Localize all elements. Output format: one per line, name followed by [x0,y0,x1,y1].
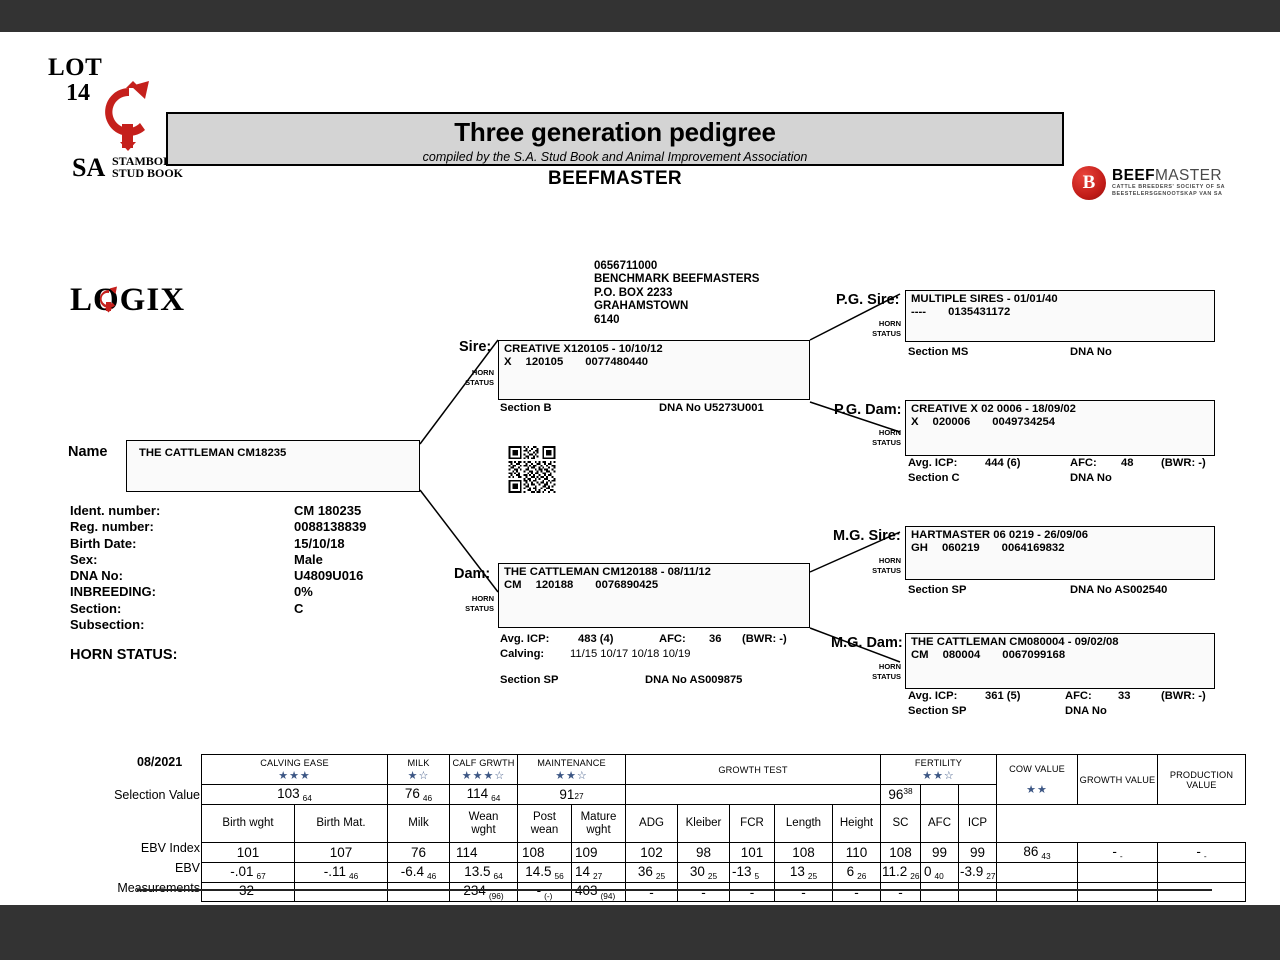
sire-dna: DNA No U5273U001 [659,402,764,414]
table-baseline-rule [137,889,1212,891]
detail-value: U4809U016 [294,568,363,583]
viewer-top-bar [0,0,1280,32]
dam-ident: 120188 [536,579,574,591]
selection-value-icp-empty [959,785,997,805]
mg-dam-icp-value: 361 (5) [985,690,1020,702]
viewer-bottom-bar [0,905,1280,960]
trait-header-adg: ADG [626,805,678,843]
pg-dam-name: CREATIVE X 02 0006 - 18/09/02 [911,403,1076,415]
detail-row: Subsection: [70,617,430,633]
sire-prefix: X [504,356,512,368]
meas-icp-empty [959,883,997,902]
horn-tag-line2: STATUS [434,604,494,614]
breed-name: BEEFMASTER [166,168,1064,190]
breeder-line: P.O. BOX 2233 [594,287,759,300]
trait-header-afc: AFC [921,805,959,843]
stars-calf-growth: ★★★☆ [450,769,517,782]
dam-bwr: (BWR: -) [742,633,787,645]
pg-sire-reg: 0135431172 [948,306,1010,318]
mg-sire-reg: 0064169832 [1002,542,1065,554]
mg-sire-section: Section SP [908,584,966,596]
ebv-index-birth-wght: 101 [202,843,295,863]
trait-header-fcr: FCR [730,805,775,843]
logix-logo: LOGIX [70,282,185,316]
lot-label: LOT [48,54,102,82]
horn-tag-line1: HORN [841,428,901,438]
beefmaster-word-master: MASTER [1155,167,1222,184]
pg-dam-icp-value: 444 (6) [985,457,1020,469]
selection-value-milk: 7646 [388,785,450,805]
meas-production-value-empty [1158,883,1246,902]
pg-sire-label: P.G. Sire: [836,292,899,308]
pg-dam-prefix: X [911,416,919,428]
pg-dam-box[interactable]: CREATIVE X 02 0006 - 18/09/02 X020006004… [905,400,1215,456]
pg-dam-horn-status-tag: HORN STATUS [841,428,901,447]
ebv-wean-wght: 13.564 [450,863,518,883]
ebv-sc: 11.226 [881,863,921,883]
ebv-post-wean: 14.556 [518,863,572,883]
ebv-index-milk: 76 [388,843,450,863]
trait-header-birth-wght: Birth wght [202,805,295,843]
pg-sire-horn-status-tag: HORN STATUS [841,319,901,338]
pg-dam-reg: 0049734254 [992,416,1055,428]
mg-sire-dna: DNA No AS002540 [1070,584,1167,596]
ebv-index-production-value: -- [1158,843,1246,863]
detail-key: INBREEDING: [70,584,156,599]
pg-sire-box[interactable]: MULTIPLE SIRES - 01/01/40 ----0135431172 [905,290,1215,342]
svg-text:SA: SA [72,153,105,182]
ebv-index-sc: 108 [881,843,921,863]
meas-growth-value-empty [1078,883,1158,902]
mg-dam-label: M.G. Dam: [831,635,903,651]
ebv-index-mature-wght: 109 [572,843,626,863]
meas-fcr: - [730,883,775,902]
breeder-line: GRAHAMSTOWN [594,300,759,313]
detail-key: Section: [70,601,121,616]
horn-tag-line2: STATUS [841,438,901,448]
mg-sire-horn-status-tag: HORN STATUS [841,556,901,575]
stars-calving-ease: ★★★ [202,769,387,782]
horn-tag-line1: HORN [841,662,901,672]
dam-name: THE CATTLEMAN CM120188 - 08/11/12 [504,566,711,578]
qr-code [497,446,567,493]
ebv-index-cow-value: 8643 [997,843,1078,863]
mg-dam-ident-line: CM0800040067099168 [911,649,1065,661]
stars-cow-value: ★★ [997,783,1077,796]
dam-icp-label: Avg. ICP: [500,633,549,645]
dam-calving-dates: 11/15 10/17 10/18 10/19 [570,648,690,660]
selection-value-growth-test-empty [626,785,881,805]
mg-sire-label: M.G. Sire: [833,528,901,544]
pg-dam-ident-line: X0200060049734254 [911,416,1055,428]
group-header-cow-value: COW VALUE ★★ [997,755,1078,805]
ebv-milk: -6.446 [388,863,450,883]
row-label-selection-value: Selection Value [114,788,200,802]
ebv-cow-value-empty [997,863,1078,883]
meas-mature-wght: 403(94) [572,883,626,902]
beefmaster-wordmark: BEEFMASTER [1112,167,1222,185]
dam-box[interactable]: THE CATTLEMAN CM120188 - 08/11/12 CM1201… [498,563,810,628]
meas-milk [388,883,450,902]
beefmaster-tagline-af: BEESTELERSGENOOTSKAP VAN SA [1112,191,1223,197]
stars-fertility: ★★☆ [881,769,996,782]
ebv-index-icp: 99 [959,843,997,863]
ebv-index-adg: 102 [626,843,678,863]
breeder-line: 0656711000 [594,260,759,273]
dam-section: Section SP [500,674,558,686]
beefmaster-word-beef: BEEF [1112,167,1155,184]
detail-row: Birth Date: 15/10/18 [70,536,430,552]
pg-dam-dna: DNA No [1070,472,1112,484]
breeder-line: BENCHMARK BEEFMASTERS [594,273,759,286]
detail-key: Subsection: [70,617,144,632]
detail-row: Section: C [70,601,430,617]
pg-sire-dna: DNA No [1070,346,1112,358]
ebv-kleiber: 3025 [678,863,730,883]
group-header-calving-ease: CALVING EASE ★★★ [202,755,388,785]
trait-header-post-wean: Postwean [518,805,572,843]
animal-details-list: Ident. number: CM 180235 Reg. number: 00… [70,503,430,633]
pg-dam-ident: 020006 [933,416,971,428]
detail-key: Reg. number: [70,519,154,534]
selection-value-calf-growth: 11464 [450,785,518,805]
trait-header-wean-wght: Weanwght [450,805,518,843]
mg-dam-dna: DNA No [1065,705,1107,717]
group-header-maintenance: MAINTENANCE ★★☆ [518,755,626,785]
trait-header-mature-wght: Maturewght [572,805,626,843]
detail-row: Sex: Male [70,552,430,568]
mg-sire-ident-line: GH0602190064169832 [911,542,1064,554]
mg-dam-prefix: CM [911,649,929,661]
mg-dam-box[interactable]: THE CATTLEMAN CM080004 - 09/02/08 CM0800… [905,633,1215,689]
horn-tag-line1: HORN [434,594,494,604]
detail-key: DNA No: [70,568,123,583]
group-header-fertility: FERTILITY ★★☆ [881,755,997,785]
ebv-index-post-wean: 108 [518,843,572,863]
breeder-line: 6140 [594,314,759,327]
ebv-fcr: -135 [730,863,775,883]
dam-dna: DNA No AS009875 [645,674,742,686]
ebv-index-height: 110 [833,843,881,863]
detail-key: Birth Date: [70,536,136,551]
selection-value-calving-ease: 10364 [202,785,388,805]
group-header-calf-growth: CALF GRWTH ★★★☆ [450,755,518,785]
mg-dam-afc-value: 33 [1118,690,1130,702]
sire-box[interactable]: CREATIVE X120105 - 10/10/12 X12010500774… [498,340,810,400]
ebv-afc: 040 [921,863,959,883]
detail-value: 15/10/18 [294,536,345,551]
pg-dam-label: P.G. Dam: [834,402,901,418]
meas-length: - [775,883,833,902]
ebv-mature-wght: 1427 [572,863,626,883]
pg-dam-afc-value: 48 [1121,457,1133,469]
mg-sire-ident: 060219 [942,542,980,554]
pedigree-document-page: LOT 14 SA STAMBOEK STUD BOOK Three gener… [0,32,1280,905]
ebv-index-kleiber: 98 [678,843,730,863]
mg-dam-ident: 080004 [943,649,981,661]
sire-label: Sire: [459,339,491,355]
group-header-production-value: PRODUCTION VALUE [1158,755,1246,805]
meas-height: - [833,883,881,902]
dam-reg: 0076890425 [595,579,658,591]
detail-row: INBREEDING: 0% [70,584,430,600]
selection-value-fertility: 9638 [881,785,921,805]
ebv-birth-mat: -.1146 [295,863,388,883]
trait-header-sc: SC [881,805,921,843]
detail-value: Male [294,552,323,567]
table-ebv-index-row: 101 107 76 114 108 109 102 98 101 108 11… [202,843,1246,863]
meas-afc-empty [921,883,959,902]
meas-adg: - [626,883,678,902]
sire-ident-line: X1201050077480440 [504,356,648,368]
animal-name-label: Name [68,444,108,460]
detail-value: C [294,601,303,616]
dam-label: Dam: [454,566,490,582]
ebv-index-birth-mat: 107 [295,843,388,863]
breeding-values-date: 08/2021 [137,755,182,769]
trait-header-icp: ICP [959,805,997,843]
animal-name-value: THE CATTLEMAN CM18235 [139,447,286,459]
pg-dam-bwr: (BWR: -) [1161,457,1206,469]
detail-value: CM 180235 [294,503,361,518]
document-title-box: Three generation pedigree compiled by th… [166,112,1064,166]
table-trait-header-row: Birth wght Birth Mat. Milk Weanwght Post… [202,805,1246,843]
selection-value-afc-empty [921,785,959,805]
detail-row: Reg. number: 0088138839 [70,519,430,535]
ebv-index-afc: 99 [921,843,959,863]
sire-ident: 120105 [526,356,564,368]
beefmaster-society-logo: B BEEFMASTER CATTLE BREEDERS' SOCIETY OF… [1072,164,1232,204]
ebv-production-value-empty [1158,863,1246,883]
detail-key: Sex: [70,552,97,567]
trait-header-length: Length [775,805,833,843]
dam-horn-status-tag: HORN STATUS [434,594,494,613]
mg-dam-horn-status-tag: HORN STATUS [841,662,901,681]
mg-dam-name: THE CATTLEMAN CM080004 - 09/02/08 [911,636,1119,648]
breeder-address-block: 0656711000 BENCHMARK BEEFMASTERS P.O. BO… [594,260,759,327]
logix-o-icon [96,286,122,313]
group-header-growth-value: GROWTH VALUE [1078,755,1158,805]
mg-sire-box[interactable]: HARTMASTER 06 0219 - 26/09/06 GH06021900… [905,526,1215,580]
meas-kleiber: - [678,883,730,902]
trait-header-milk: Milk [388,805,450,843]
mg-dam-bwr: (BWR: -) [1161,690,1206,702]
detail-row: DNA No: U4809U016 [70,568,430,584]
sa-studbook-logo-icon [95,80,165,152]
pg-sire-section: Section MS [908,346,968,358]
dam-afc-value: 36 [709,633,721,645]
horn-tag-line2: STATUS [841,672,901,682]
row-label-ebv-index: EBV Index [141,841,200,855]
logix-wordmark: LOGIX [70,282,185,318]
stars-milk: ★☆ [388,769,449,782]
lot-number: 14 [66,80,90,107]
meas-wean-wght: 234(96) [450,883,518,902]
dam-icp-value: 483 (4) [578,633,613,645]
stars-maintenance: ★★☆ [518,769,625,782]
detail-key: Ident. number: [70,503,160,518]
meas-birth-wght: 32 [202,883,295,902]
mg-sire-prefix: GH [911,542,928,554]
ebv-index-growth-value: -- [1078,843,1158,863]
sire-name: CREATIVE X120105 - 10/10/12 [504,343,663,355]
selection-value-maintenance: 9127 [518,785,626,805]
mg-dam-section: Section SP [908,705,966,717]
mg-dam-icp-label: Avg. ICP: [908,690,957,702]
horn-tag-line1: HORN [434,368,494,378]
ebv-birth-wght: -.0167 [202,863,295,883]
dam-prefix: CM [504,579,522,591]
ebv-index-length: 108 [775,843,833,863]
group-header-growth-test: GROWTH TEST [626,755,881,785]
ebv-height: 626 [833,863,881,883]
breeding-values-table: CALVING EASE ★★★ MILK ★☆ CALF GRWTH ★★★☆… [201,754,1246,902]
meas-post-wean: -(-) [518,883,572,902]
ebv-length: 1325 [775,863,833,883]
meas-sc: - [881,883,921,902]
ebv-icp: -3.927 [959,863,997,883]
ebv-growth-value-empty [1078,863,1158,883]
row-label-ebv: EBV [175,861,200,875]
row-label-measurements: Measurements [117,881,200,895]
beefmaster-disc-letter: B [1072,166,1106,200]
meas-cow-value-empty [997,883,1078,902]
detail-value: 0088138839 [294,519,366,534]
mg-dam-afc-label: AFC: [1065,690,1092,702]
ebv-adg: 3625 [626,863,678,883]
sire-reg: 0077480440 [585,356,648,368]
horn-tag-line2: STATUS [434,378,494,388]
sire-horn-status-tag: HORN STATUS [434,368,494,387]
table-ebv-row: -.0167 -.1146 -6.446 13.564 14.556 1427 … [202,863,1246,883]
dam-afc-label: AFC: [659,633,686,645]
horn-tag-line2: STATUS [841,329,901,339]
mg-sire-name: HARTMASTER 06 0219 - 26/09/06 [911,529,1088,541]
sire-section: Section B [500,402,552,414]
horn-tag-line1: HORN [841,319,901,329]
dam-calving-label: Calving: [500,648,544,660]
pg-sire-name: MULTIPLE SIRES - 01/01/40 [911,293,1058,305]
pg-dam-section: Section C [908,472,960,484]
detail-row: Ident. number: CM 180235 [70,503,430,519]
page-subtitle: compiled by the S.A. Stud Book and Anima… [168,150,1062,164]
animal-horn-status-label: HORN STATUS: [70,647,177,663]
dam-ident-line: CM1201880076890425 [504,579,658,591]
trait-header-height: Height [833,805,881,843]
group-header-milk: MILK ★☆ [388,755,450,785]
detail-value: 0% [294,584,313,599]
page-title: Three generation pedigree [168,117,1062,148]
trait-header-kleiber: Kleiber [678,805,730,843]
animal-name-box: THE CATTLEMAN CM18235 [126,440,420,492]
table-group-header-row: CALVING EASE ★★★ MILK ★☆ CALF GRWTH ★★★☆… [202,755,1246,785]
trait-header-birth-mat: Birth Mat. [295,805,388,843]
pg-sire-prefix: ---- [911,306,926,318]
mg-dam-reg: 0067099168 [1002,649,1065,661]
ebv-index-fcr: 101 [730,843,775,863]
beefmaster-tagline-en: CATTLE BREEDERS' SOCIETY OF SA [1112,184,1225,190]
pg-dam-afc-label: AFC: [1070,457,1097,469]
horn-tag-line2: STATUS [841,566,901,576]
meas-birth-mat [295,883,388,902]
pg-dam-icp-label: Avg. ICP: [908,457,957,469]
horn-tag-line1: HORN [841,556,901,566]
table-measurements-row: 32 234(96) -(-) 403(94) - - - - - - [202,883,1246,902]
ebv-index-wean-wght: 114 [450,843,518,863]
pg-sire-ident-line: ----0135431172 [911,306,1010,318]
